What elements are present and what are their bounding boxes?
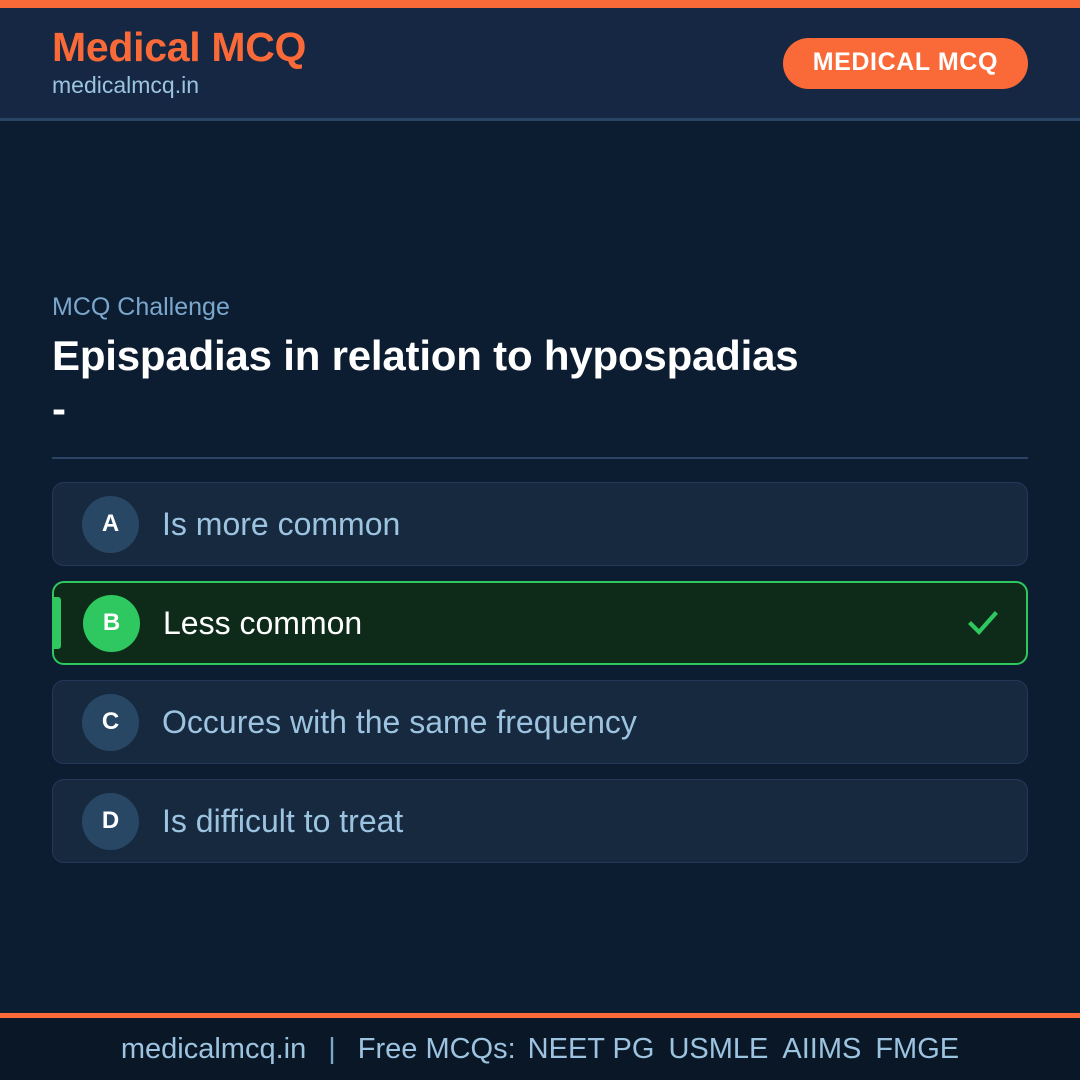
footer-text: medicalmcq.in | Free MCQs: NEET PGUSMLEA… — [121, 1035, 959, 1064]
brand-title: Medical MCQ — [52, 26, 306, 69]
footer-exam[interactable]: NEET PG — [528, 1033, 655, 1065]
footer-site[interactable]: medicalmcq.in — [121, 1035, 306, 1064]
option-d[interactable]: DIs difficult to treat — [52, 779, 1028, 863]
footer: medicalmcq.in | Free MCQs: NEET PGUSMLEA… — [0, 1013, 1080, 1080]
brand: Medical MCQ medicalmcq.in — [52, 26, 306, 100]
mcq-card: Medical MCQ medicalmcq.in MEDICAL MCQ MC… — [0, 0, 1080, 1080]
footer-exam[interactable]: AIIMS — [782, 1033, 861, 1065]
page-title: Epispadias in relation to hypospadias - — [52, 330, 812, 435]
footer-label: Free MCQs: — [358, 1035, 516, 1064]
option-badge-c: C — [82, 694, 139, 751]
option-badge-b: B — [83, 595, 140, 652]
option-badge-d: D — [82, 793, 139, 850]
option-label-a: Is more common — [162, 505, 967, 543]
option-label-b: Less common — [163, 604, 966, 642]
header-badge[interactable]: MEDICAL MCQ — [783, 38, 1028, 89]
footer-exam[interactable]: USMLE — [668, 1033, 768, 1065]
header: Medical MCQ medicalmcq.in MEDICAL MCQ — [0, 8, 1080, 121]
question-divider — [52, 457, 1028, 459]
option-label-d: Is difficult to treat — [162, 802, 967, 840]
option-label-c: Occures with the same frequency — [162, 703, 967, 741]
footer-separator: | — [328, 1035, 336, 1064]
brand-subtitle: medicalmcq.in — [52, 71, 306, 100]
option-c[interactable]: COccures with the same frequency — [52, 680, 1028, 764]
check-icon — [966, 606, 1000, 640]
top-accent-bar — [0, 0, 1080, 8]
eyebrow-label: MCQ Challenge — [52, 292, 1028, 322]
correct-accent-bar — [54, 597, 61, 649]
options-list: AIs more commonBLess commonCOccures with… — [52, 482, 1028, 863]
footer-exam-list: NEET PGUSMLEAIIMSFMGE — [528, 1035, 959, 1064]
footer-exam[interactable]: FMGE — [875, 1033, 959, 1065]
option-b[interactable]: BLess common — [52, 581, 1028, 665]
main-content: MCQ Challenge Epispadias in relation to … — [0, 121, 1080, 1013]
question-block: MCQ Challenge Epispadias in relation to … — [52, 292, 1028, 482]
option-badge-a: A — [82, 496, 139, 553]
option-a[interactable]: AIs more common — [52, 482, 1028, 566]
